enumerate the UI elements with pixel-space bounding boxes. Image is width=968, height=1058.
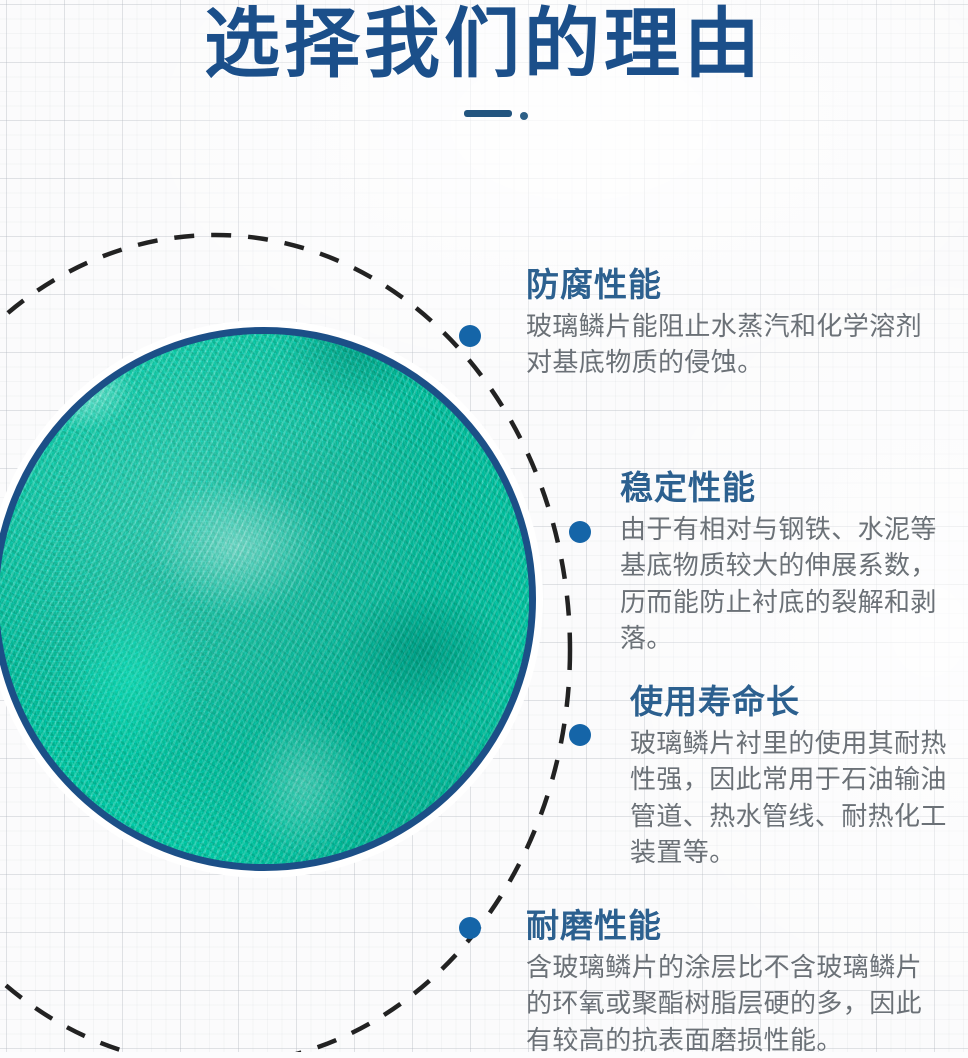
feature-body-1: 玻璃鳞片能阻止水蒸汽和化学溶剂 对基底物质的侵蚀。 bbox=[526, 308, 956, 381]
orbit-dot-4 bbox=[459, 917, 481, 939]
title-divider bbox=[0, 94, 968, 128]
orbit-dot-3 bbox=[569, 724, 591, 746]
feature-block-1: 防腐性能 玻璃鳞片能阻止水蒸汽和化学溶剂 对基底物质的侵蚀。 bbox=[526, 267, 956, 381]
page-header: 选择我们的理由 bbox=[0, 0, 968, 128]
feature-title-1: 防腐性能 bbox=[526, 267, 956, 304]
feature-title-4: 耐磨性能 bbox=[526, 908, 966, 945]
feature-body-2: 由于有相对与钢铁、水泥等 基底物质较大的伸展系数， 历而能防止衬底的裂解和剥落。 bbox=[620, 511, 968, 657]
product-photo-circle bbox=[0, 327, 536, 871]
page-title: 选择我们的理由 bbox=[0, 0, 968, 86]
feature-block-2: 稳定性能 由于有相对与钢铁、水泥等 基底物质较大的伸展系数， 历而能防止衬底的裂… bbox=[620, 470, 968, 657]
feature-block-3: 使用寿命长 玻璃鳞片衬里的使用其耐热 性强，因此常用于石油输油 管道、热水管线、… bbox=[630, 684, 968, 871]
orbit-dot-2 bbox=[569, 521, 591, 543]
feature-body-4: 含玻璃鳞片的涂层比不含玻璃鳞片 的环氧或聚酯树脂层硬的多，因此 有较高的抗表面磨… bbox=[526, 949, 966, 1058]
title-divider-dot-icon bbox=[520, 112, 528, 120]
feature-block-4: 耐磨性能 含玻璃鳞片的涂层比不含玻璃鳞片 的环氧或聚酯树脂层硬的多，因此 有较高… bbox=[526, 908, 966, 1058]
feature-body-3: 玻璃鳞片衬里的使用其耐热 性强，因此常用于石油输油 管道、热水管线、耐热化工 装… bbox=[630, 725, 968, 871]
feature-title-3: 使用寿命长 bbox=[630, 684, 968, 721]
orbit-dot-1 bbox=[459, 325, 481, 347]
product-photo-shading bbox=[0, 334, 529, 864]
title-divider-bar bbox=[464, 110, 512, 117]
feature-title-2: 稳定性能 bbox=[620, 470, 968, 507]
